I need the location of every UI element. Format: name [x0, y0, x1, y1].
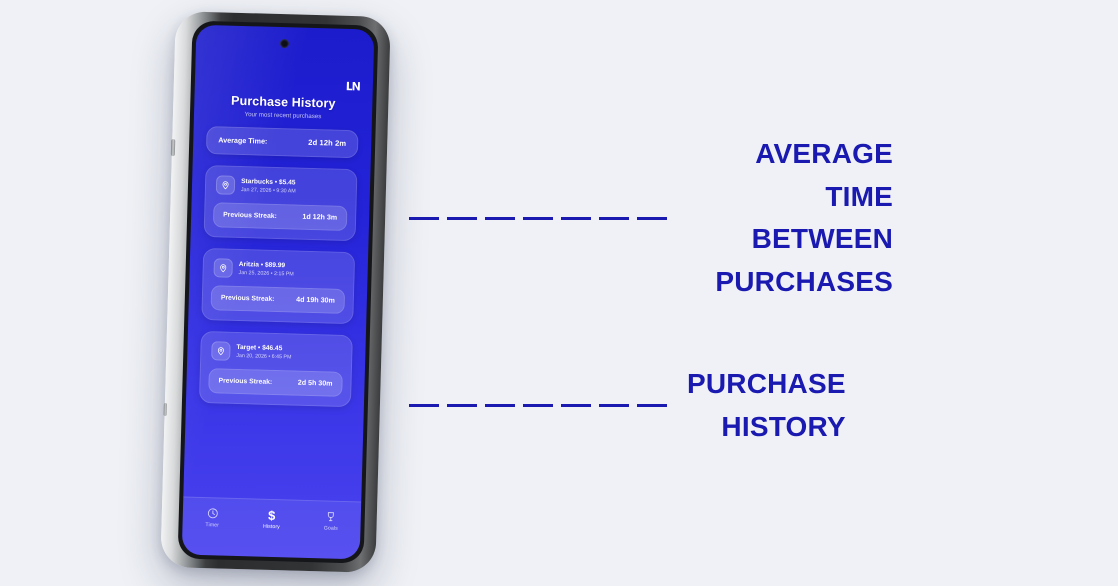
- purchase-card[interactable]: Aritzia • $89.99 Jan 25, 2026 • 2:15 PM …: [201, 248, 355, 324]
- tab-goals[interactable]: Goals: [308, 510, 355, 532]
- trophy-icon: [325, 510, 337, 522]
- previous-streak-label: Previous Streak:: [223, 211, 277, 219]
- previous-streak-label: Previous Streak:: [221, 294, 275, 302]
- tab-label: Goals: [324, 525, 338, 531]
- annotation-label: PURCHASE HISTORY: [687, 363, 846, 448]
- phone-screen: ʟɴ Purchase History Your most recent pur…: [182, 25, 375, 560]
- power-button[interactable]: [164, 403, 167, 416]
- previous-streak-value: 1d 12h 3m: [302, 213, 337, 222]
- tab-label: Timer: [205, 522, 219, 528]
- annotation-purchase-history: PURCHASE HISTORY: [409, 363, 893, 448]
- purchase-header: Starbucks • $5.45 Jan 27, 2026 • 9:30 AM: [214, 174, 349, 198]
- purchase-meta: Starbucks • $5.45 Jan 27, 2026 • 9:30 AM: [241, 178, 296, 194]
- bottom-tab-bar: Timer $ History Goals: [182, 497, 362, 560]
- tab-timer[interactable]: Timer: [189, 507, 236, 529]
- previous-streak-pill: Previous Streak: 2d 5h 30m: [208, 368, 343, 397]
- phone-mockup: ʟɴ Purchase History Your most recent pur…: [160, 11, 391, 577]
- map-pin-icon: [216, 175, 236, 195]
- leader-line: [409, 217, 671, 220]
- page-title: Purchase History: [194, 93, 372, 112]
- previous-streak-pill: Previous Streak: 1d 12h 3m: [213, 202, 348, 231]
- volume-button[interactable]: [171, 139, 175, 156]
- leader-line: [409, 404, 671, 407]
- purchase-date: Jan 27, 2026 • 9:30 AM: [241, 187, 296, 195]
- purchase-header: Aritzia • $89.99 Jan 25, 2026 • 2:15 PM: [211, 257, 346, 281]
- purchase-meta: Target • $46.45 Jan 20, 2026 • 6:45 PM: [236, 344, 292, 360]
- previous-streak-pill: Previous Streak: 4d 19h 30m: [211, 285, 346, 314]
- map-pin-icon: [213, 258, 233, 278]
- annotation-average-time: AVERAGE TIME BETWEEN PURCHASES: [409, 133, 893, 303]
- purchase-merchant: Aritzia • $89.99: [239, 261, 285, 269]
- clock-icon: [206, 507, 218, 519]
- cards-area: Average Time: 2d 12h 2m Starbucks: [186, 126, 372, 408]
- purchase-card[interactable]: Starbucks • $5.45 Jan 27, 2026 • 9:30 AM…: [204, 165, 358, 241]
- purchase-card[interactable]: Target • $46.45 Jan 20, 2026 • 6:45 PM P…: [199, 331, 353, 407]
- map-pin-icon: [211, 341, 231, 361]
- previous-streak-value: 2d 5h 30m: [298, 379, 333, 388]
- app-logo-icon: ʟɴ: [346, 78, 360, 94]
- previous-streak-value: 4d 19h 30m: [296, 296, 335, 305]
- purchase-merchant: Starbucks • $5.45: [241, 178, 296, 187]
- purchase-merchant: Target • $46.45: [236, 344, 282, 352]
- purchase-header: Target • $46.45 Jan 20, 2026 • 6:45 PM: [209, 340, 344, 364]
- average-time-label: Average Time:: [218, 135, 267, 145]
- average-time-card[interactable]: Average Time: 2d 12h 2m: [206, 126, 359, 158]
- previous-streak-label: Previous Streak:: [218, 377, 272, 385]
- average-time-value: 2d 12h 2m: [308, 138, 346, 148]
- tab-history[interactable]: $ History: [248, 508, 295, 530]
- tab-label: History: [263, 524, 280, 530]
- dollar-icon: $: [268, 509, 276, 521]
- page-subtitle: Your most recent purchases: [194, 110, 372, 122]
- annotation-label: AVERAGE TIME BETWEEN PURCHASES: [687, 133, 893, 303]
- purchase-date: Jan 20, 2026 • 6:45 PM: [236, 353, 291, 361]
- purchase-date: Jan 25, 2026 • 2:15 PM: [238, 270, 293, 278]
- purchase-history-app: ʟɴ Purchase History Your most recent pur…: [182, 25, 375, 560]
- purchase-meta: Aritzia • $89.99 Jan 25, 2026 • 2:15 PM: [238, 261, 294, 277]
